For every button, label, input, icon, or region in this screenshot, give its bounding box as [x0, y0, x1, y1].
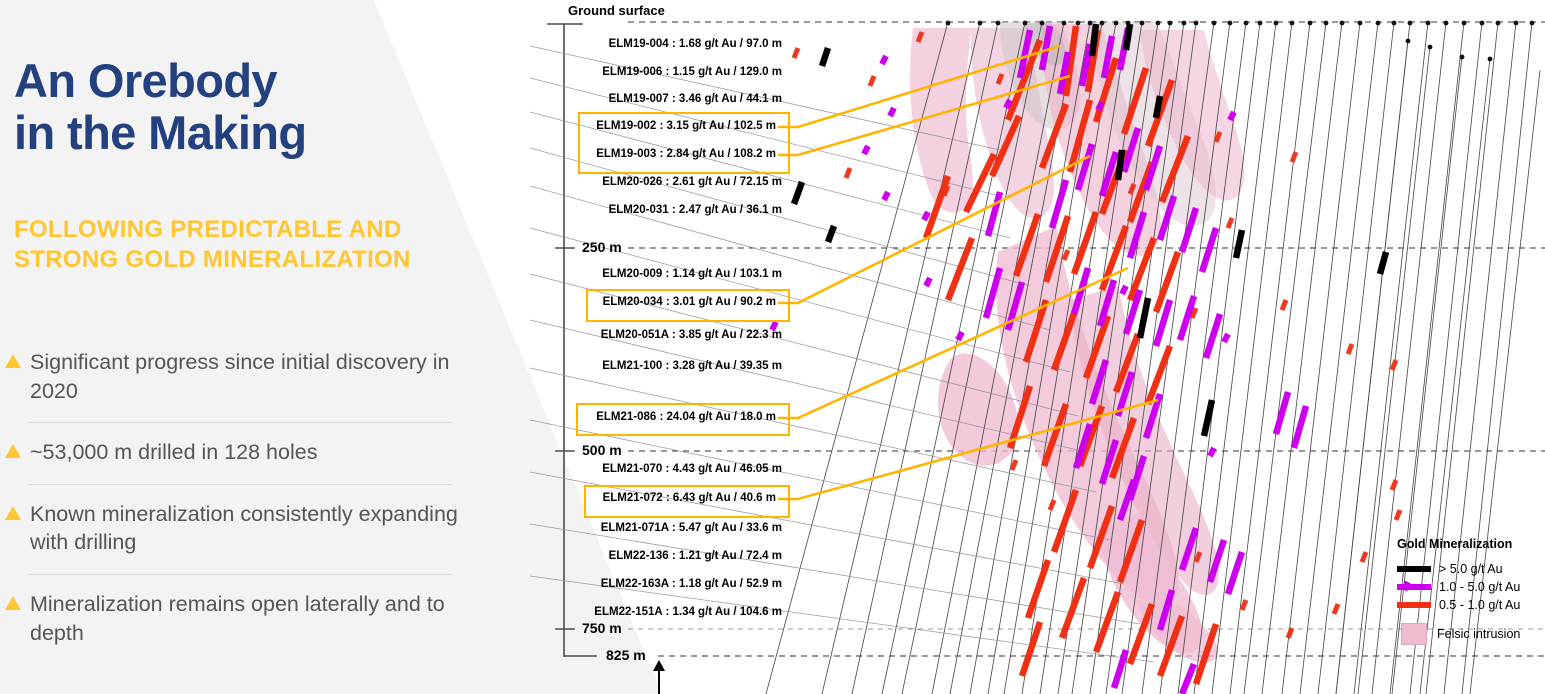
hole-label-elm19-003: ELM19-003 : 2.84 g/t Au / 108.2 m: [530, 148, 776, 160]
legend-swatch-red-line: [1397, 602, 1431, 608]
hole-label-elm22-151a: ELM22-151A : 1.34 g/t Au / 104.6 m: [530, 606, 782, 618]
left-text-column: An Orebody in the Making FOLLOWING PREDI…: [0, 0, 530, 694]
list-divider: [28, 422, 452, 423]
hole-label-elm20-031: ELM20-031 : 2.47 g/t Au / 36.1 m: [530, 204, 782, 216]
list-item: Significant progress since initial disco…: [0, 348, 470, 405]
legend-item-1-to-5: 1.0 - 5.0 g/t Au: [1397, 580, 1537, 594]
list-item: ~53,000 m drilled in 128 holes: [0, 438, 470, 467]
hole-label-elm19-006: ELM19-006 : 1.15 g/t Au / 129.0 m: [530, 66, 782, 78]
legend-label-gt-5: > 5.0 g/t Au: [1439, 562, 1503, 576]
hole-label-elm20-026: ELM20-026 : 2.61 g/t Au / 72.15 m: [530, 176, 782, 188]
legend-swatch-magenta-line: [1397, 584, 1431, 590]
page-title-line-1: An Orebody: [14, 55, 444, 107]
hole-label-elm21-100: ELM21-100 : 3.28 g/t Au / 39.35 m: [530, 360, 782, 372]
triangle-bullet-icon: [5, 506, 21, 520]
list-divider: [28, 484, 452, 485]
hole-label-elm21-086: ELM21-086 : 24.04 g/t Au / 18.0 m: [530, 411, 776, 423]
list-item-label: ~53,000 m drilled in 128 holes: [30, 440, 317, 464]
hole-label-elm21-070: ELM21-070 : 4.43 g/t Au / 46.05 m: [530, 463, 782, 475]
list-item: Mineralization remains open laterally an…: [0, 590, 470, 647]
triangle-bullet-icon: [5, 354, 21, 368]
legend-label-felsic-intrusion: Felsic intrusion: [1437, 627, 1520, 641]
legend-item-felsic-intrusion: Felsic intrusion: [1397, 623, 1537, 645]
hole-label-elm19-007: ELM19-007 : 3.46 g/t Au / 44.1 m: [530, 93, 782, 105]
drill-cross-section: Ground surface 250 m 500 m 750 m 825 m E…: [530, 0, 1545, 694]
presentation-slide: An Orebody in the Making FOLLOWING PREDI…: [0, 0, 1545, 694]
hole-label-elm20-009: ELM20-009 : 1.14 g/t Au / 103.1 m: [530, 268, 782, 280]
depth-label-750m: 750 m: [582, 620, 622, 636]
page-subtitle: FOLLOWING PREDICTABLE AND STRONG GOLD MI…: [14, 215, 444, 275]
hole-label-elm22-163a: ELM22-163A : 1.18 g/t Au / 52.9 m: [530, 578, 782, 590]
hole-label-elm21-071a: ELM21-071A : 5.47 g/t Au / 33.6 m: [530, 522, 782, 534]
list-item-label: Significant progress since initial disco…: [30, 350, 449, 403]
hole-label-elm22-136: ELM22-136 : 1.21 g/t Au / 72.4 m: [530, 550, 782, 562]
legend-item-gt-5: > 5.0 g/t Au: [1397, 562, 1537, 576]
legend-swatch-black-line: [1397, 566, 1431, 572]
hole-label-elm19-002: ELM19-002 : 3.15 g/t Au / 102.5 m: [530, 120, 776, 132]
legend-title: Gold Mineralization: [1397, 537, 1537, 551]
hole-label-elm21-072: ELM21-072 : 6.43 g/t Au / 40.6 m: [530, 492, 776, 504]
legend-item-0p5-to-1: 0.5 - 1.0 g/t Au: [1397, 598, 1537, 612]
list-item: Known mineralization consistently expand…: [0, 500, 470, 557]
hole-label-elm20-051a: ELM20-051A : 3.85 g/t Au / 22.3 m: [530, 329, 782, 341]
legend-label-0p5-to-1: 0.5 - 1.0 g/t Au: [1439, 598, 1520, 612]
triangle-bullet-icon: [5, 444, 21, 458]
page-title-line-2: in the Making: [14, 107, 444, 159]
ground-surface-label: Ground surface: [568, 3, 665, 18]
triangle-bullet-icon: [5, 596, 21, 610]
legend-label-1-to-5: 1.0 - 5.0 g/t Au: [1439, 580, 1520, 594]
list-item-label: Mineralization remains open laterally an…: [30, 592, 445, 645]
depth-label-250m: 250 m: [582, 239, 622, 255]
legend-swatch-felsic-box: [1401, 623, 1427, 645]
legend: Gold Mineralization > 5.0 g/t Au 1.0 - 5…: [1397, 537, 1537, 649]
bullet-list: Significant progress since initial disco…: [0, 348, 470, 647]
hole-label-elm20-034: ELM20-034 : 3.01 g/t Au / 90.2 m: [530, 296, 776, 308]
north-arrow-icon: [648, 660, 670, 694]
page-title: An Orebody in the Making: [14, 55, 444, 159]
list-divider: [28, 574, 452, 575]
depth-label-825m: 825 m: [606, 647, 646, 663]
list-item-label: Known mineralization consistently expand…: [30, 502, 458, 555]
depth-label-500m: 500 m: [582, 442, 622, 458]
hole-label-elm19-004: ELM19-004 : 1.68 g/t Au / 97.0 m: [530, 38, 782, 50]
